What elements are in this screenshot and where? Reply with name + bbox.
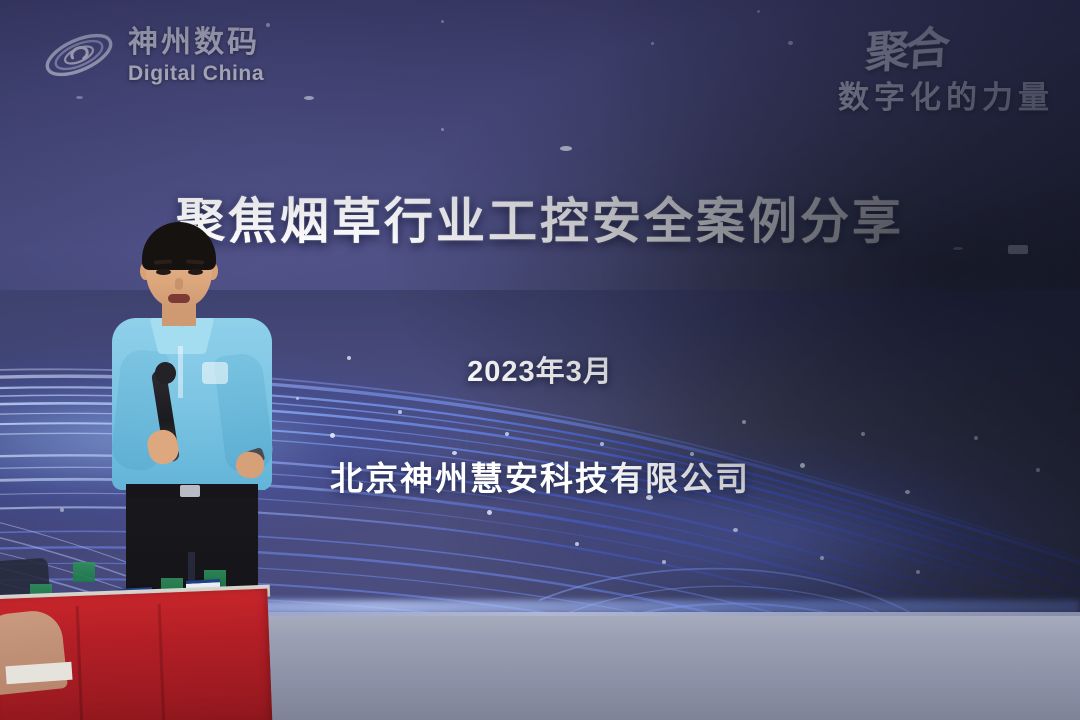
- bottle-body: [73, 538, 95, 558]
- speaker-belt-buckle: [180, 485, 200, 497]
- bottle-body: [161, 554, 183, 574]
- screen-vignette-top: [0, 0, 1080, 250]
- conference-stage-photo: 神州数码 Digital China 聚合 数字化的力量 聚焦烟草行业工控安全案…: [0, 0, 1080, 720]
- speaker-eye-left: [156, 269, 171, 275]
- speaker-nose: [175, 278, 183, 290]
- bottle-body: [30, 560, 52, 580]
- water-bottle: [30, 560, 52, 580]
- water-bottle: [204, 546, 226, 566]
- bottle-label: [73, 562, 95, 582]
- bottle-body: [204, 546, 226, 566]
- speaker-presenter: [96, 222, 286, 622]
- speaker-shirt-placket: [178, 346, 183, 398]
- speaker-eye-right: [188, 269, 203, 275]
- water-bottle: [161, 554, 183, 574]
- speaker-mouth: [168, 294, 190, 303]
- speaker-chest-logo: [202, 362, 228, 384]
- water-bottle: [73, 538, 95, 558]
